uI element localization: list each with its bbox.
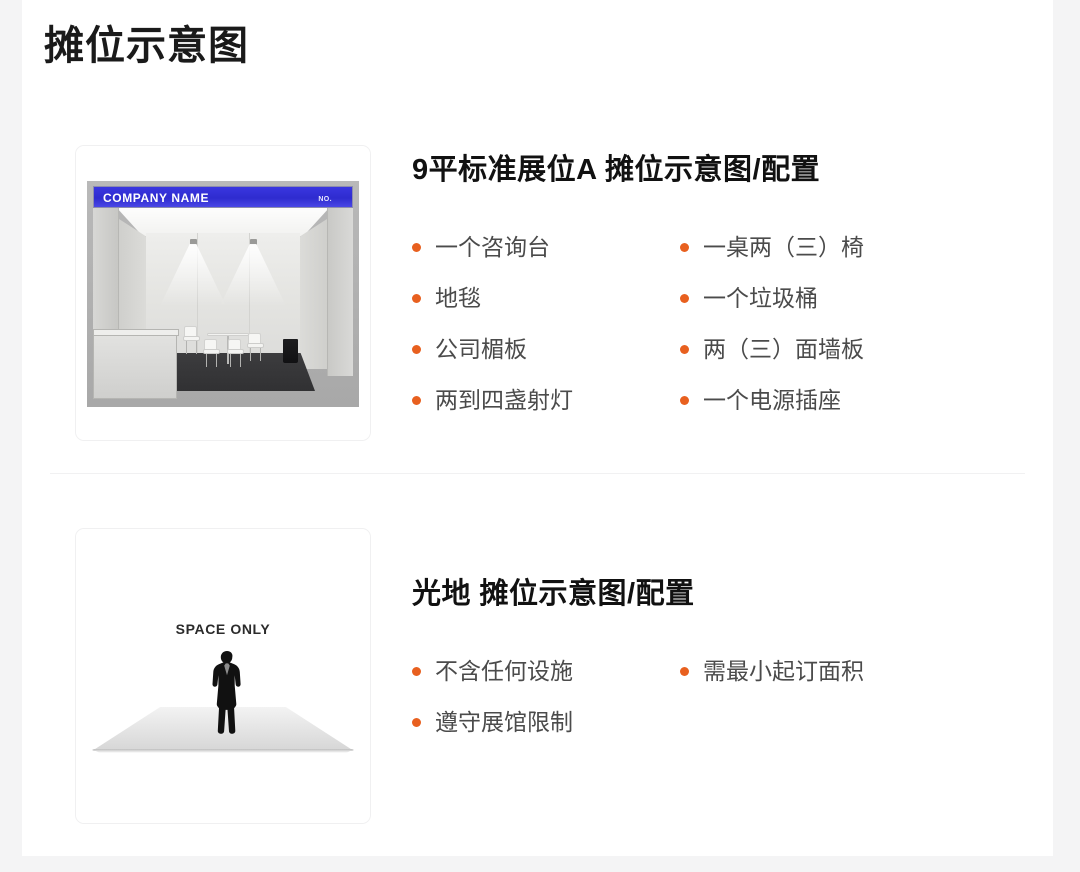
section-heading: 9平标准展位A 摊位示意图/配置 [412, 146, 1012, 188]
fascia-board: COMPANY NAME NO. [93, 186, 353, 208]
booth-section-raw-space: SPACE ONLY 光地 摊位示意图/配置 不含任何设施 [22, 505, 1053, 845]
bullet-dot-icon [680, 294, 689, 303]
spec-item: 需最小起订面积 [680, 646, 948, 697]
space-floor-shadow [92, 749, 354, 753]
spotlight-beam [220, 244, 286, 306]
bullet-dot-icon [412, 345, 421, 354]
counter-top [93, 329, 179, 336]
spec-label: 需最小起订面积 [703, 660, 864, 683]
bullet-dot-icon [412, 243, 421, 252]
booth-ceiling [117, 208, 329, 236]
spec-item: 公司楣板 [412, 324, 680, 375]
spec-item: 一个电源插座 [680, 375, 948, 426]
fascia-number-label: NO. [318, 196, 332, 203]
booth-thumbnail-card[interactable]: COMPANY NAME NO. [75, 145, 371, 441]
spec-label: 不含任何设施 [435, 660, 573, 683]
spec-label: 公司楣板 [435, 338, 527, 361]
spec-label: 两（三）面墙板 [703, 338, 864, 361]
booth-chair [227, 339, 244, 365]
spec-item: 地毯 [412, 273, 680, 324]
bullet-dot-icon [680, 345, 689, 354]
bullet-dot-icon [412, 294, 421, 303]
spec-item: 一个垃圾桶 [680, 273, 948, 324]
booth-chair [203, 339, 220, 365]
spec-label: 地毯 [435, 287, 481, 310]
bullet-dot-icon [412, 667, 421, 676]
content-panel: 摊位示意图 COMPANY NAME NO. [22, 0, 1053, 856]
spec-list-standard: 一个咨询台 一桌两（三）椅 地毯 一个垃圾桶 公司楣板 [412, 222, 1012, 426]
spec-list-raw-space: 不含任何设施 需最小起订面积 遵守展馆限制 [412, 646, 1012, 748]
spec-label: 遵守展馆限制 [435, 711, 573, 734]
page-title: 摊位示意图 [44, 22, 249, 70]
booth-chair [247, 333, 264, 359]
spec-item: 遵守展馆限制 [412, 697, 680, 748]
spec-label: 一桌两（三）椅 [703, 236, 864, 259]
section-divider [50, 473, 1025, 474]
spec-item: 不含任何设施 [412, 646, 680, 697]
booth-render-image: COMPANY NAME NO. [76, 146, 370, 440]
booth-chair [183, 326, 200, 352]
spec-label: 一个咨询台 [435, 236, 550, 259]
booth-details-standard: 9平标准展位A 摊位示意图/配置 一个咨询台 一桌两（三）椅 地毯 一个垃圾桶 [412, 146, 1012, 426]
bullet-dot-icon [680, 667, 689, 676]
spotlight-beam [160, 244, 226, 306]
spec-item: 两到四盏射灯 [412, 375, 680, 426]
bullet-dot-icon [412, 396, 421, 405]
spec-label: 一个电源插座 [703, 389, 841, 412]
space-only-image: SPACE ONLY [76, 529, 370, 823]
bullet-dot-icon [412, 718, 421, 727]
spec-item: 一桌两（三）椅 [680, 222, 948, 273]
spec-item-empty [680, 697, 948, 748]
spec-label: 一个垃圾桶 [703, 287, 818, 310]
spec-item: 两（三）面墙板 [680, 324, 948, 375]
booth-section-standard: COMPANY NAME NO. [22, 128, 1053, 473]
bullet-dot-icon [680, 396, 689, 405]
bullet-dot-icon [680, 243, 689, 252]
booth-details-raw-space: 光地 摊位示意图/配置 不含任何设施 需最小起订面积 遵守展馆限制 [412, 570, 1012, 748]
section-heading: 光地 摊位示意图/配置 [412, 570, 1012, 612]
booth-side-panel-right [299, 219, 327, 369]
space-only-label: SPACE ONLY [76, 621, 370, 637]
reception-counter [93, 334, 177, 399]
spec-label: 两到四盏射灯 [435, 389, 573, 412]
person-silhouette-icon [209, 651, 245, 739]
waste-bin [283, 339, 298, 363]
spec-item: 一个咨询台 [412, 222, 680, 273]
fascia-company-label: COMPANY NAME [103, 191, 209, 205]
space-only-thumbnail-card[interactable]: SPACE ONLY [75, 528, 371, 824]
booth-wall-right-outer [327, 208, 353, 376]
